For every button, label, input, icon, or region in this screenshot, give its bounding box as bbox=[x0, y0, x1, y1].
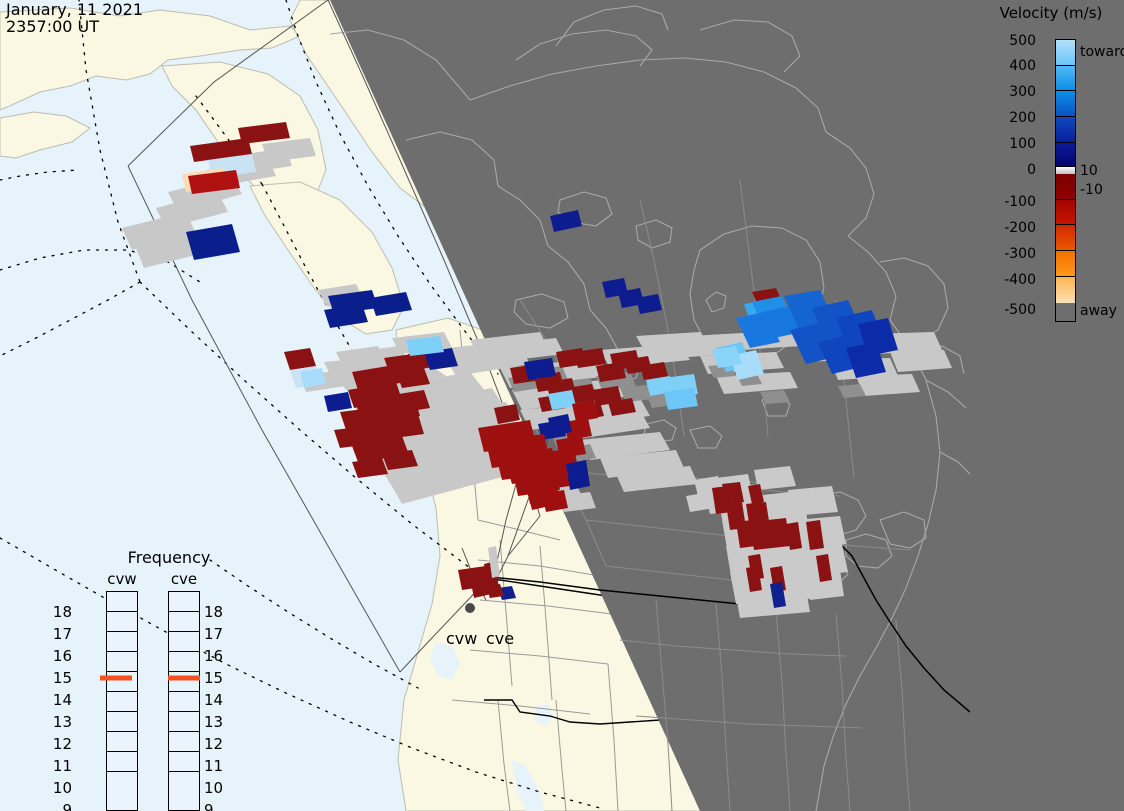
frequency-tick: 14 bbox=[48, 691, 72, 709]
colorbar-segment bbox=[1056, 117, 1075, 143]
frequency-marker-cvw bbox=[100, 676, 132, 681]
velocity-cell bbox=[566, 460, 590, 490]
base-map-layer bbox=[0, 0, 970, 811]
frequency-tick: 16 bbox=[204, 647, 228, 665]
frequency-tick: 18 bbox=[204, 603, 228, 621]
colorbar-tick: -400 bbox=[966, 272, 1040, 288]
colorbar-positive-threshold-label: 10 bbox=[1080, 163, 1098, 179]
frequency-tick: 9 bbox=[204, 801, 228, 811]
colorbar-negative-threshold-label: -10 bbox=[1080, 182, 1103, 198]
colorbar-segment bbox=[1056, 143, 1075, 168]
colorbar-tick: -300 bbox=[966, 246, 1040, 262]
frequency-cell bbox=[169, 612, 199, 632]
frequency-cell bbox=[169, 652, 199, 672]
frequency-cell bbox=[107, 612, 137, 632]
frequency-column-label-cve: cve bbox=[168, 570, 200, 588]
frequency-cell bbox=[169, 752, 199, 772]
colorbar-tick: 100 bbox=[966, 136, 1040, 152]
frequency-cell bbox=[169, 732, 199, 752]
frequency-tick: 10 bbox=[204, 779, 228, 797]
radar-site-label-cve: cve bbox=[486, 629, 514, 648]
frequency-tick: 12 bbox=[48, 735, 72, 753]
frequency-cell bbox=[169, 692, 199, 712]
timestamp-label: January, 11 2021 2357:00 UT bbox=[6, 1, 143, 35]
colorbar-tick: 400 bbox=[966, 58, 1040, 74]
frequency-tick: 13 bbox=[204, 713, 228, 731]
frequency-legend-title: Frequency bbox=[96, 548, 242, 567]
colorbar-away-label: away bbox=[1080, 303, 1117, 319]
colorbar-segment bbox=[1056, 200, 1075, 226]
frequency-tick: 16 bbox=[48, 647, 72, 665]
colorbar-tick: -100 bbox=[966, 194, 1040, 210]
frequency-cell bbox=[169, 632, 199, 652]
frequency-tick: 17 bbox=[48, 625, 72, 643]
frequency-tick: 13 bbox=[48, 713, 72, 731]
colorbar-segment bbox=[1056, 40, 1075, 66]
velocity-colorbar: Velocity (m/s) 500 400 300 200 100 0 -10… bbox=[970, 0, 1124, 811]
frequency-bar-cve bbox=[168, 591, 200, 811]
velocity-cell bbox=[572, 400, 598, 422]
radar-site-label-cvw: cvw bbox=[446, 629, 477, 648]
colorbar-tick: 200 bbox=[966, 110, 1040, 126]
frequency-cell bbox=[107, 692, 137, 712]
colorbar-segment bbox=[1056, 174, 1075, 200]
colorbar-segment bbox=[1056, 66, 1075, 92]
frequency-tick: 17 bbox=[204, 625, 228, 643]
frequency-tick: 15 bbox=[48, 669, 72, 687]
radar-fan-plot: January, 11 2021 2357:00 UT cvw cve Freq… bbox=[0, 0, 1124, 811]
frequency-cell bbox=[169, 712, 199, 732]
frequency-tick: 18 bbox=[48, 603, 72, 621]
map-canvas[interactable]: January, 11 2021 2357:00 UT cvw cve Freq… bbox=[0, 0, 970, 811]
frequency-tick: 14 bbox=[204, 691, 228, 709]
velocity-cell bbox=[548, 414, 572, 436]
frequency-tick: 9 bbox=[48, 801, 72, 811]
colorbar-segment bbox=[1056, 225, 1075, 251]
frequency-cell bbox=[107, 652, 137, 672]
frequency-tick: 11 bbox=[204, 757, 228, 775]
colorbar-segment bbox=[1056, 251, 1075, 277]
colorbar-tick: 0 bbox=[966, 162, 1040, 178]
frequency-tick: 11 bbox=[48, 757, 72, 775]
frequency-cell bbox=[107, 752, 137, 772]
colorbar-segment bbox=[1056, 277, 1075, 303]
frequency-cell bbox=[107, 712, 137, 732]
frequency-cell bbox=[107, 772, 137, 792]
frequency-tick: 10 bbox=[48, 779, 72, 797]
colorbar-toward-label: toward bbox=[1080, 44, 1124, 60]
frequency-cell bbox=[169, 772, 199, 792]
frequency-cell bbox=[107, 592, 137, 612]
frequency-cell bbox=[169, 592, 199, 612]
colorbar-title: Velocity (m/s) bbox=[978, 4, 1124, 22]
colorbar-tick: -500 bbox=[966, 302, 1040, 318]
colorbar-segment-zero bbox=[1056, 167, 1075, 174]
frequency-marker-cve bbox=[168, 676, 200, 681]
colorbar-gradient-bar[interactable] bbox=[1055, 39, 1076, 322]
velocity-cell bbox=[750, 518, 790, 550]
frequency-tick: 15 bbox=[204, 669, 228, 687]
radar-site-marker[interactable] bbox=[465, 603, 475, 613]
frequency-cell bbox=[107, 632, 137, 652]
colorbar-segment bbox=[1056, 91, 1075, 117]
frequency-bar-cvw bbox=[106, 591, 138, 811]
colorbar-tick: -200 bbox=[966, 220, 1040, 236]
colorbar-tick: 500 bbox=[966, 33, 1040, 49]
frequency-tick: 12 bbox=[204, 735, 228, 753]
frequency-cell bbox=[107, 732, 137, 752]
colorbar-tick: 300 bbox=[966, 84, 1040, 100]
frequency-column-label-cvw: cvw bbox=[106, 570, 138, 588]
